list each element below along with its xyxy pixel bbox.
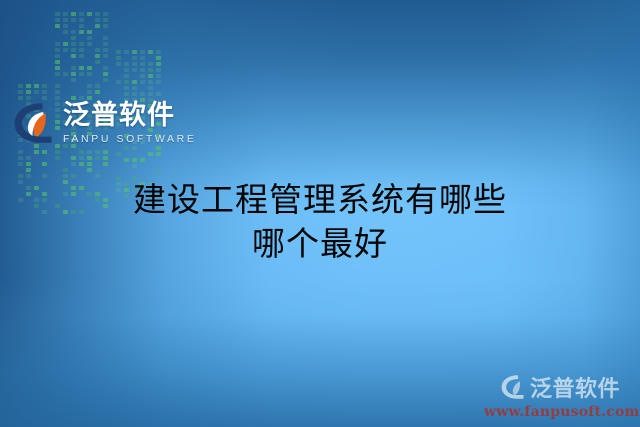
pixel-cell xyxy=(42,168,47,172)
pixel-cell xyxy=(132,50,137,54)
pixel-cell xyxy=(55,84,60,88)
pixel-cell xyxy=(116,86,121,90)
pixel-cell xyxy=(26,168,31,172)
pixel-cell xyxy=(34,84,39,88)
pixel-cell xyxy=(148,74,153,78)
pixel-cell xyxy=(34,162,39,166)
pixel-cell xyxy=(124,170,129,174)
pixel-cell xyxy=(79,168,84,172)
pixel-cell xyxy=(34,150,39,154)
pixel-cell xyxy=(116,50,121,54)
pixel-cell xyxy=(71,156,76,160)
pixel-cell xyxy=(140,146,145,150)
pixel-cell xyxy=(55,12,60,16)
pixel-cell xyxy=(42,96,47,100)
pixel-cell xyxy=(116,74,121,78)
pixel-cell xyxy=(79,30,84,34)
pixel-cell xyxy=(148,146,153,150)
pixel-cell xyxy=(63,84,68,88)
pixel-cell xyxy=(79,36,84,40)
pixel-cell xyxy=(79,18,84,22)
pixel-cell xyxy=(55,36,60,40)
pixel-cell xyxy=(148,86,153,90)
pixel-cell xyxy=(156,56,161,60)
pixel-cell xyxy=(18,84,23,88)
pixel-cell xyxy=(156,170,161,174)
pixel-cell xyxy=(124,68,129,72)
pixel-cell xyxy=(87,84,92,88)
pixel-cell xyxy=(95,18,100,22)
pixel-cell xyxy=(87,12,92,16)
pixel-cell xyxy=(26,156,31,160)
pixel-cell xyxy=(63,36,68,40)
pixel-cell xyxy=(95,42,100,46)
pixel-cell xyxy=(71,18,76,22)
pixel-cell xyxy=(103,168,108,172)
pixel-cell xyxy=(103,66,108,70)
pixel-cell xyxy=(71,48,76,52)
pixel-cell xyxy=(71,168,76,172)
pixel-cell xyxy=(148,152,153,156)
pixel-cell xyxy=(116,68,121,72)
pixel-cell xyxy=(71,12,76,16)
pixel-cell xyxy=(26,84,31,88)
pixel-cell xyxy=(18,162,23,166)
pixel-cell xyxy=(87,78,92,82)
pixel-cell xyxy=(95,60,100,64)
fanpu-sail-logo-watermark-icon xyxy=(500,374,525,400)
pixel-cell xyxy=(79,66,84,70)
pixel-cell xyxy=(42,162,47,166)
pixel-cell xyxy=(71,36,76,40)
pixel-cell xyxy=(55,72,60,76)
pixel-cell xyxy=(116,56,121,60)
pixel-cell xyxy=(116,146,121,150)
pixel-cell xyxy=(87,42,92,46)
pixel-cell xyxy=(124,92,129,96)
pixel-cell xyxy=(132,86,137,90)
pixel-cell xyxy=(103,84,108,88)
pixel-cell xyxy=(55,78,60,82)
pixel-cell xyxy=(124,152,129,156)
pixel-cell xyxy=(103,150,108,154)
pixel-cell xyxy=(63,54,68,58)
pixel-cell xyxy=(140,80,145,84)
pixel-cell xyxy=(148,170,153,174)
pixel-cell xyxy=(95,78,100,82)
pixel-cell xyxy=(95,12,100,16)
pixel-cell xyxy=(79,42,84,46)
pixel-cell xyxy=(63,72,68,76)
pixel-cell xyxy=(140,56,145,60)
pixel-cell xyxy=(55,24,60,28)
pixel-cell xyxy=(103,48,108,52)
pixel-cell xyxy=(95,72,100,76)
pixel-cell xyxy=(132,56,137,60)
pixel-cell xyxy=(63,162,68,166)
pixel-cell xyxy=(148,62,153,66)
pixel-cell xyxy=(87,24,92,28)
pixel-cell xyxy=(63,156,68,160)
pixel-cell xyxy=(26,150,31,154)
pixel-cell xyxy=(55,150,60,154)
pixel-cell xyxy=(103,90,108,94)
pixel-cell xyxy=(140,74,145,78)
headline-line-1: 建设工程管理系统有哪些 xyxy=(0,178,640,222)
pixel-cell xyxy=(87,60,92,64)
pixel-cell xyxy=(87,90,92,94)
pixel-cell xyxy=(87,48,92,52)
pixel-cell xyxy=(156,62,161,66)
pixel-cell xyxy=(132,170,137,174)
pixel-cell xyxy=(79,90,84,94)
pixel-cell xyxy=(63,90,68,94)
pixel-cell xyxy=(116,170,121,174)
pixel-cell xyxy=(116,158,121,162)
pixel-cell xyxy=(95,24,100,28)
pixel-cell xyxy=(55,168,60,172)
pixel-cell xyxy=(42,90,47,94)
image-canvas: 泛普软件 FANPU SOFTWARE 建设工程管理系统有哪些 哪个最好 泛普软… xyxy=(0,0,640,427)
pixel-cell xyxy=(87,66,92,70)
pixel-cell xyxy=(124,74,129,78)
pixel-cell xyxy=(18,150,23,154)
pixel-cell xyxy=(124,80,129,84)
pixel-cell xyxy=(71,66,76,70)
pixel-cell xyxy=(87,168,92,172)
pixel-cell xyxy=(34,96,39,100)
pixel-cell xyxy=(71,162,76,166)
pixel-cell xyxy=(87,54,92,58)
pixel-cell xyxy=(132,74,137,78)
pixel-cell xyxy=(87,162,92,166)
pixel-cell xyxy=(132,80,137,84)
pixel-cell xyxy=(103,78,108,82)
pixel-cell xyxy=(140,170,145,174)
pixel-cell xyxy=(103,72,108,76)
pixel-cell xyxy=(63,24,68,28)
pixel-cell xyxy=(148,164,153,168)
pixel-cell xyxy=(132,158,137,162)
pixel-cell xyxy=(95,156,100,160)
pixel-cell xyxy=(63,18,68,22)
pixel-cell xyxy=(55,96,60,100)
pixel-cell xyxy=(79,78,84,82)
pixel-cell xyxy=(55,60,60,64)
pixel-cell xyxy=(18,96,23,100)
pixel-cell xyxy=(87,30,92,34)
pixel-cell xyxy=(18,156,23,160)
pixel-cell xyxy=(71,90,76,94)
pixel-cell xyxy=(140,50,145,54)
brand-text-block: 泛普软件 FANPU SOFTWARE xyxy=(63,102,196,145)
pixel-cell xyxy=(34,156,39,160)
pixel-cell xyxy=(156,158,161,162)
pixel-cell xyxy=(95,162,100,166)
pixel-cell xyxy=(71,84,76,88)
pixel-cell xyxy=(124,158,129,162)
pixel-cell xyxy=(71,30,76,34)
pixel-cell xyxy=(148,56,153,60)
pixel-cell xyxy=(103,18,108,22)
pixel-cell xyxy=(95,168,100,172)
pixel-cell xyxy=(71,24,76,28)
pixel-cell xyxy=(156,80,161,84)
pixel-cell xyxy=(156,86,161,90)
pixel-cell xyxy=(87,36,92,40)
pixel-cell xyxy=(103,30,108,34)
brand-name-en: FANPU SOFTWARE xyxy=(63,134,196,145)
brand-logo: 泛普软件 FANPU SOFTWARE xyxy=(12,101,196,145)
pixel-cell xyxy=(103,42,108,46)
pixel-cell xyxy=(55,42,60,46)
pixel-cell xyxy=(26,90,31,94)
pixel-cell xyxy=(156,74,161,78)
pixel-cell xyxy=(63,168,68,172)
pixel-cell xyxy=(116,152,121,156)
headline: 建设工程管理系统有哪些 哪个最好 xyxy=(0,178,640,265)
pixel-cell xyxy=(87,150,92,154)
pixel-cell xyxy=(71,54,76,58)
pixel-cell xyxy=(71,60,76,64)
pixel-cell xyxy=(63,78,68,82)
pixel-cell xyxy=(55,54,60,58)
pixel-cell xyxy=(79,150,84,154)
pixel-cell xyxy=(148,50,153,54)
pixel-cell xyxy=(71,42,76,46)
pixel-cell xyxy=(79,156,84,160)
pixel-cell xyxy=(63,48,68,52)
pixel-cell xyxy=(132,62,137,66)
pixel-cell xyxy=(140,152,145,156)
pixel-cell xyxy=(148,80,153,84)
pixel-cell xyxy=(79,48,84,52)
pixel-cell xyxy=(140,68,145,72)
pixel-cell xyxy=(71,72,76,76)
pixel-cell xyxy=(103,60,108,64)
pixel-cell xyxy=(116,62,121,66)
pixel-cell xyxy=(132,164,137,168)
pixel-cell xyxy=(124,164,129,168)
pixel-cell xyxy=(79,162,84,166)
pixel-cell xyxy=(55,48,60,52)
pixel-cell xyxy=(63,12,68,16)
pixel-cell xyxy=(156,50,161,54)
pixel-cell xyxy=(63,30,68,34)
pixel-cell xyxy=(124,146,129,150)
pixel-cell xyxy=(87,156,92,160)
pixel-cell xyxy=(55,30,60,34)
pixel-cell xyxy=(63,60,68,64)
pixel-cell xyxy=(132,92,137,96)
pixel-cell xyxy=(156,164,161,168)
pixel-cell xyxy=(42,156,47,160)
pixel-cell xyxy=(132,68,137,72)
fanpu-sail-logo-icon xyxy=(12,101,54,145)
pixel-cell xyxy=(116,80,121,84)
pixel-cell xyxy=(156,152,161,156)
watermark: 泛普软件 www.fanpusoft.com xyxy=(484,371,636,420)
pixel-cell xyxy=(132,152,137,156)
green-pixel-columns xyxy=(0,0,190,175)
headline-line-2: 哪个最好 xyxy=(0,222,640,266)
pixel-cell xyxy=(79,54,84,58)
pixel-cell xyxy=(148,68,153,72)
pixel-cell xyxy=(95,150,100,154)
pixel-cell xyxy=(79,72,84,76)
pixel-cell xyxy=(87,18,92,22)
pixel-cell xyxy=(34,90,39,94)
pixel-cell xyxy=(71,150,76,154)
pixel-cell xyxy=(132,146,137,150)
pixel-cell xyxy=(55,18,60,22)
pixel-cell xyxy=(55,90,60,94)
pixel-cell xyxy=(116,164,121,168)
pixel-cell xyxy=(55,162,60,166)
pixel-cell xyxy=(55,156,60,160)
pixel-cell xyxy=(95,90,100,94)
pixel-cell xyxy=(63,66,68,70)
pixel-cell xyxy=(55,66,60,70)
pixel-cell xyxy=(79,12,84,16)
pixel-cell xyxy=(26,162,31,166)
pixel-cell xyxy=(140,86,145,90)
brand-name-cn: 泛普软件 xyxy=(63,102,196,129)
pixel-cell xyxy=(140,62,145,66)
pixel-cell xyxy=(124,62,129,66)
pixel-cell xyxy=(103,24,108,28)
pixel-cell xyxy=(116,92,121,96)
pixel-cell xyxy=(95,30,100,34)
pixel-cell xyxy=(18,168,23,172)
pixel-cell xyxy=(140,92,145,96)
pixel-cell xyxy=(26,96,31,100)
pixel-cell xyxy=(63,42,68,46)
pixel-cell xyxy=(103,156,108,160)
pixel-cell xyxy=(42,150,47,154)
pixel-cell xyxy=(34,168,39,172)
pixel-cell xyxy=(103,12,108,16)
pixel-cell xyxy=(103,36,108,40)
pixel-cell xyxy=(148,158,153,162)
pixel-cell xyxy=(156,146,161,150)
pixel-cell xyxy=(95,84,100,88)
pixel-cell xyxy=(140,164,145,168)
pixel-cell xyxy=(79,24,84,28)
pixel-cell xyxy=(95,36,100,40)
pixel-cell xyxy=(124,50,129,54)
pixel-cell xyxy=(124,56,129,60)
pixel-cell xyxy=(71,78,76,82)
pixel-cell xyxy=(103,54,108,58)
pixel-cell xyxy=(156,92,161,96)
watermark-name-cn: 泛普软件 xyxy=(530,371,620,403)
pixel-cell xyxy=(103,162,108,166)
pixel-cell xyxy=(156,68,161,72)
pixel-cell xyxy=(87,72,92,76)
pixel-cell xyxy=(140,158,145,162)
watermark-url: www.fanpusoft.com xyxy=(484,404,636,420)
pixel-cell xyxy=(79,60,84,64)
watermark-logo-row: 泛普软件 xyxy=(484,371,636,403)
pixel-cell xyxy=(95,54,100,58)
pixel-cell xyxy=(42,84,47,88)
pixel-cell xyxy=(63,150,68,154)
pixel-cell xyxy=(18,90,23,94)
pixel-cell xyxy=(124,86,129,90)
pixel-cell xyxy=(95,48,100,52)
pixel-cell xyxy=(148,92,153,96)
pixel-cell xyxy=(79,84,84,88)
pixel-cell xyxy=(95,66,100,70)
